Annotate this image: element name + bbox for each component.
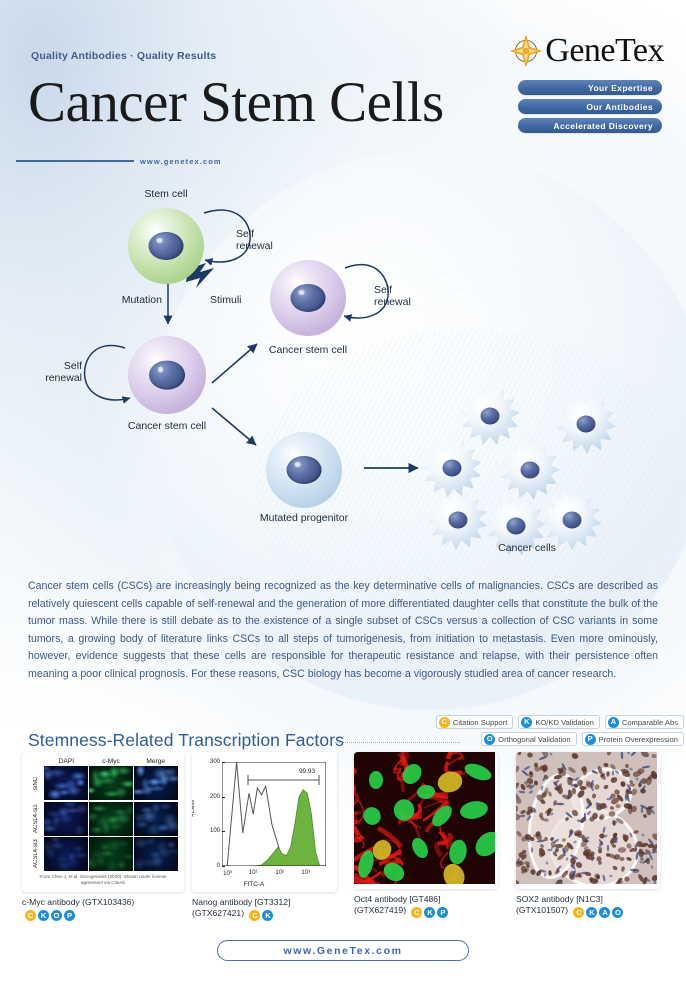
- oct4-micrograph: [354, 752, 495, 884]
- orthogonal-badge-icon: O: [612, 907, 623, 918]
- flow-x-tick: 10⁰: [223, 870, 232, 877]
- pill-accelerated-discovery: Accelerated Discovery: [518, 118, 662, 133]
- flow-y-tick: 300: [210, 759, 220, 765]
- mutated-progenitor-shape: [266, 432, 342, 508]
- protein-overexpression-badge-icon: P: [585, 734, 596, 745]
- cmyc-micrograph-cell: [44, 766, 88, 800]
- page-title: Cancer Stem Cells: [28, 72, 444, 134]
- cmyc-row-acsl4-si3: ACSL4-si3: [28, 836, 44, 871]
- legend-label-protein-overexpression: Protein Overexpression: [599, 735, 678, 744]
- legend-chip-kokd-validation[interactable]: K KO/KD Validation: [518, 715, 600, 729]
- sox2-cell-nucleus: [607, 845, 609, 852]
- stem-cell-nucleus: [149, 232, 184, 260]
- cmyc-grid-body: siNC ACSL4-si1 ACSL4-si3: [28, 766, 178, 871]
- citation-badge-icon: C: [411, 907, 422, 918]
- kokd-badge-icon: K: [521, 717, 532, 728]
- cmyc-micrograph-cell: [134, 766, 178, 800]
- oct4-nuclear-stain: [369, 771, 383, 789]
- cancer-stem-cell-right-shape: [270, 260, 346, 336]
- label-self-renewal-right: Self renewal: [374, 284, 436, 308]
- cmyc-figure-image: DAPI c-Myc Merge siNC ACSL4-si1 ACSL4-si…: [22, 752, 184, 892]
- sox2-badge-list: CKAO: [573, 907, 623, 918]
- label-mutation: Mutation: [96, 294, 162, 306]
- cmyc-micrograph-grid: [44, 766, 178, 871]
- cmyc-micrograph-cell: [44, 837, 88, 871]
- citation-badge-icon: C: [439, 717, 450, 728]
- cancer-cell-nucleus: [521, 462, 540, 479]
- cmyc-micrograph-cell: [89, 802, 133, 836]
- flow-y-tick: 100: [210, 828, 220, 834]
- flow-x-tick: 10²: [275, 870, 284, 876]
- panel-oct4-caption: Oct4 antibody [GT486] (GTX627419) CKP: [354, 894, 498, 918]
- legend-label-orthogonal-validation: Orthogonal Validation: [498, 735, 570, 744]
- label-cancer-cells: Cancer cells: [472, 542, 582, 554]
- panel-cmyc-caption: c-Myc antibody (GTX103436) CKOP: [22, 897, 184, 921]
- cmyc-badge-list: CKOP: [25, 910, 75, 921]
- cancer-cell-nucleus: [481, 408, 500, 425]
- orthogonal-badge-icon: O: [51, 910, 62, 921]
- panel-cmyc[interactable]: DAPI c-Myc Merge siNC ACSL4-si1 ACSL4-si…: [22, 752, 184, 921]
- oct4-cytoskeleton-stain: [401, 778, 403, 792]
- flow-x-axis-label: FITC-A: [244, 881, 265, 888]
- cmyc-credit: From Chen J, et al. Oncogenesis (2020). …: [28, 874, 178, 885]
- legend-chip-protein-overexpression[interactable]: P Protein Overexpression: [582, 732, 684, 746]
- flow-y-tick-mark: [222, 866, 225, 867]
- stem-cell-shape: [128, 208, 204, 284]
- legend-row-2: O Orthogonal Validation P Protein Overex…: [392, 732, 684, 746]
- validation-legend: C Citation Support K KO/KD Validation A …: [392, 715, 684, 749]
- cmyc-row-sinc: siNC: [28, 766, 44, 801]
- legend-chip-orthogonal-validation[interactable]: O Orthogonal Validation: [481, 732, 576, 746]
- cmyc-row-acsl4-si1: ACSL4-si1: [28, 801, 44, 836]
- panel-oct4[interactable]: Oct4 antibody [GT486] (GTX627419) CKP: [354, 752, 498, 918]
- kokd-badge-icon: K: [38, 910, 49, 921]
- cmyc-micrograph-cell: [89, 766, 133, 800]
- flow-y-tick: 200: [210, 794, 220, 800]
- cmyc-caption-text: c-Myc antibody (GTX103436): [22, 897, 134, 907]
- tagline: Quality Antibodies · Quality Results: [31, 50, 216, 62]
- pill-our-antibodies: Our Antibodies: [518, 99, 662, 114]
- sox2-figure-image: [516, 752, 660, 889]
- kokd-badge-icon: K: [586, 907, 597, 918]
- cmyc-col-dapi: DAPI: [44, 758, 89, 765]
- cancer-stem-cell-right-nucleus: [291, 284, 326, 312]
- panel-sox2[interactable]: SOX2 antibody [N1C3] (GTX101507) CKAO: [516, 752, 660, 918]
- legend-label-comparable-abs: Comparable Abs: [622, 718, 678, 727]
- oct4-badge-list: CKP: [411, 907, 448, 918]
- nanog-badge-list: CK: [249, 910, 273, 921]
- cancer-cell-nucleus: [507, 518, 526, 535]
- citation-badge-icon: C: [249, 910, 260, 921]
- flow-y-axis-ticks: 0100200300: [198, 762, 222, 866]
- comparable-abs-badge-icon: A: [608, 717, 619, 728]
- label-self-renewal-top: Self renewal: [236, 228, 298, 252]
- kokd-badge-icon: K: [262, 910, 273, 921]
- csc-diagram: Stem cell Self renewal Mutation Stimuli …: [0, 168, 686, 573]
- legend-chip-citation-support[interactable]: C Citation Support: [436, 715, 513, 729]
- flow-histogram-plot: [222, 762, 326, 866]
- sox2-micrograph: [516, 752, 657, 884]
- protein-overexpression-badge-icon: P: [64, 910, 75, 921]
- legend-row-1: C Citation Support K KO/KD Validation A …: [392, 715, 684, 729]
- cmyc-micrograph-cell: [89, 837, 133, 871]
- flow-x-tick: 10³: [301, 870, 310, 876]
- comparable-abs-badge-icon: A: [599, 907, 610, 918]
- sox2-caption-line2: (GTX101507): [516, 905, 568, 915]
- mutated-progenitor-nucleus: [287, 456, 322, 484]
- label-stem-cell: Stem cell: [126, 188, 206, 200]
- cmyc-column-headers: DAPI c-Myc Merge: [44, 758, 178, 765]
- panel-nanog-caption: Nanog antibody [GT3312] (GTX627421) CK: [192, 897, 340, 921]
- logo-wordmark: GeneTex: [545, 32, 664, 70]
- footer-url-button[interactable]: www.GeneTex.com: [217, 940, 469, 961]
- cancer-cell-nucleus: [443, 460, 462, 477]
- kokd-badge-icon: K: [424, 907, 435, 918]
- cmyc-col-merge: Merge: [133, 758, 178, 765]
- cmyc-row-headers: siNC ACSL4-si1 ACSL4-si3: [28, 766, 44, 871]
- flow-x-tick: 10¹: [249, 870, 258, 876]
- sox2-caption-line1: SOX2 antibody [N1C3]: [516, 894, 660, 905]
- compass-star-icon: [509, 34, 543, 68]
- nanog-caption-line2: (GTX627421): [192, 908, 244, 918]
- cancer-cell-nucleus: [563, 512, 582, 529]
- flow-y-tick: 0: [217, 863, 220, 869]
- protein-overexpression-badge-icon: P: [437, 907, 448, 918]
- cmyc-col-cmyc: c-Myc: [89, 758, 134, 765]
- label-mutated-progenitor: Mutated progenitor: [238, 512, 370, 524]
- cancer-cell-nucleus: [577, 416, 596, 433]
- sox2-cell-nucleus: [614, 841, 617, 843]
- poster-header: Quality Antibodies · Quality Results Can…: [0, 0, 686, 168]
- citation-badge-icon: C: [25, 910, 36, 921]
- flow-gate-percentage: 99.93: [299, 768, 315, 775]
- cancer-stem-cell-left-shape: [128, 336, 206, 414]
- cmyc-micrograph-cell: [44, 802, 88, 836]
- pill-your-expertise: Your Expertise: [518, 80, 662, 95]
- nanog-caption-line1: Nanog antibody [GT3312]: [192, 897, 340, 908]
- citation-badge-icon: C: [573, 907, 584, 918]
- genetex-logo: GeneTex: [509, 32, 664, 70]
- cmyc-micrograph-cell: [134, 802, 178, 836]
- oct4-figure-image: [354, 752, 498, 889]
- header-url: www.genetex.com: [140, 157, 222, 166]
- intro-paragraph: Cancer stem cells (CSCs) are increasingl…: [28, 578, 658, 684]
- cancer-stem-cell-left-nucleus: [149, 361, 185, 390]
- panel-nanog[interactable]: #Cells 0100200300: [192, 752, 340, 921]
- flow-y-axis-label: #Cells: [192, 800, 196, 817]
- cmyc-micrograph-cell: [134, 837, 178, 871]
- legend-label-kokd-validation: KO/KD Validation: [535, 718, 594, 727]
- section-title: Stemness-Related Transcription Factors: [28, 730, 344, 751]
- label-self-renewal-left: Self renewal: [20, 360, 82, 384]
- nanog-flow-chart: #Cells 0100200300: [192, 752, 337, 892]
- label-cancer-stem-cell-right: Cancer stem cell: [248, 344, 368, 356]
- header-rule: www.genetex.com: [0, 155, 686, 167]
- panel-sox2-caption: SOX2 antibody [N1C3] (GTX101507) CKAO: [516, 894, 660, 918]
- oct4-caption-line1: Oct4 antibody [GT486]: [354, 894, 498, 905]
- label-cancer-stem-cell-left: Cancer stem cell: [107, 420, 227, 432]
- oct4-caption-line2: (GTX627419): [354, 905, 406, 915]
- legend-chip-comparable-abs[interactable]: A Comparable Abs: [605, 715, 684, 729]
- label-stimuli: Stimuli: [210, 294, 270, 306]
- orthogonal-badge-icon: O: [484, 734, 495, 745]
- cancer-cell-nucleus: [449, 512, 468, 529]
- poster-page: Quality Antibodies · Quality Results Can…: [0, 0, 686, 982]
- rule-bar: [16, 160, 134, 163]
- tagline-pill-list: Your Expertise Our Antibodies Accelerate…: [518, 80, 662, 137]
- legend-label-citation-support: Citation Support: [453, 718, 507, 727]
- cancer-cell-cluster: [422, 386, 616, 555]
